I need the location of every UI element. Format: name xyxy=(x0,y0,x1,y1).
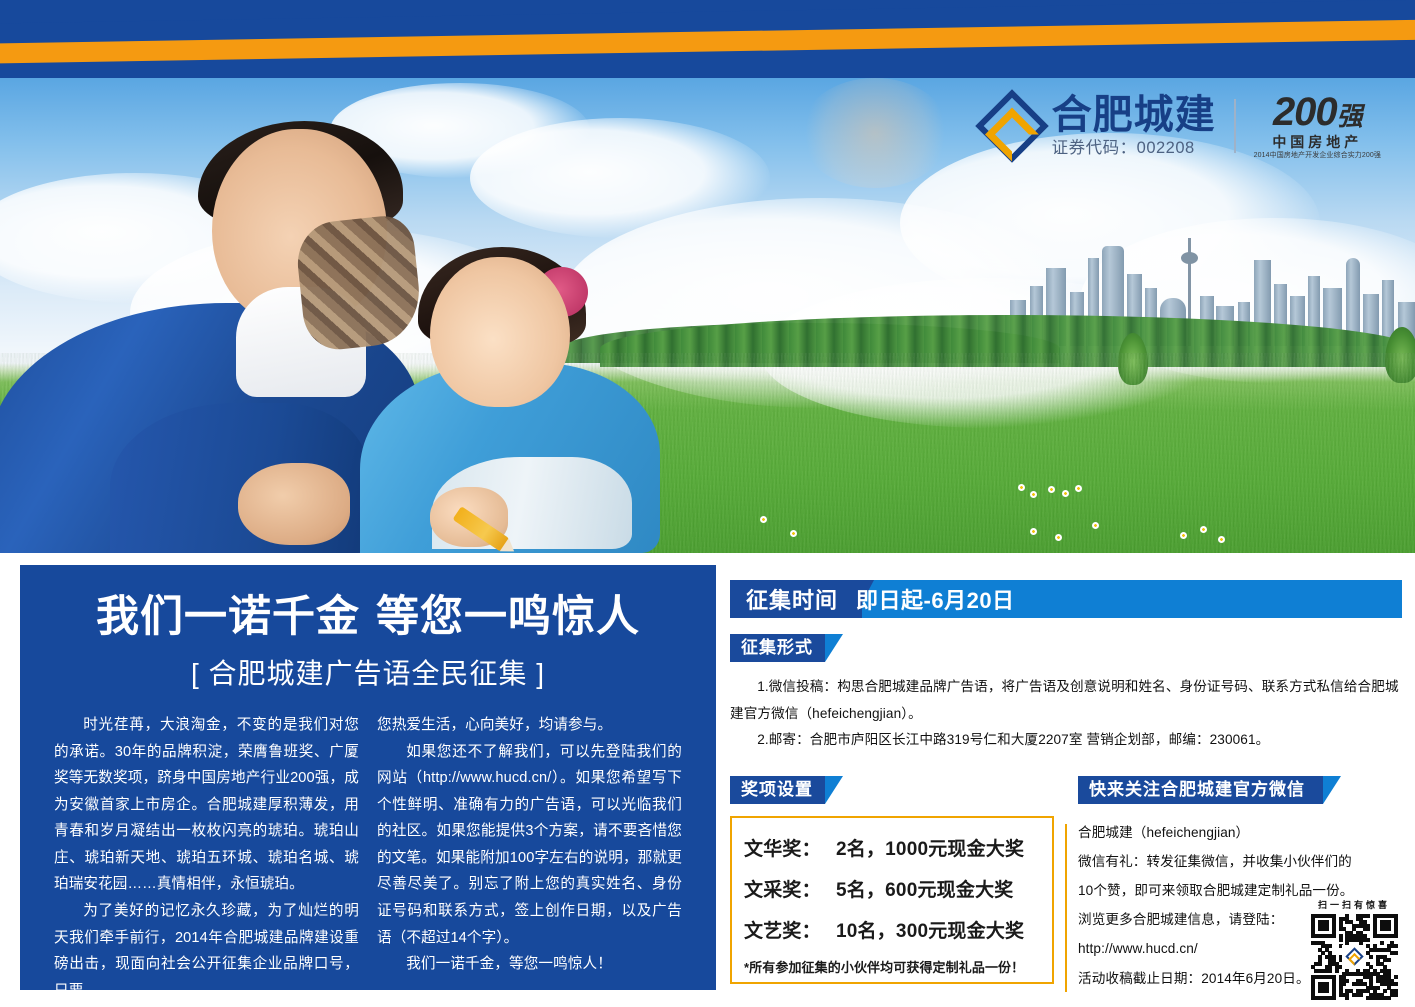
wechat-body: 合肥城建（hefeichengjian） 微信有礼：转发征集微信，并收集小伙伴们… xyxy=(1078,818,1402,996)
left-blue-panel: 我们一诺千金等您一鸣惊人 [ 合肥城建广告语全民征集 ] 时光荏苒，大浪淘金，不… xyxy=(20,565,716,990)
section-tag-label: 征集形式 xyxy=(730,634,825,662)
paragraph: 时光荏苒，大浪淘金，不变的是我们对您的承诺。30年的品牌积淀，荣膺鲁班奖、广厦奖… xyxy=(54,712,359,898)
collection-time-value: 即日起-6月20日 xyxy=(856,583,1015,615)
award-value: 10名，300元现金大奖 xyxy=(836,916,1024,943)
paragraph: 我们一诺千金，等您一鸣惊人！ xyxy=(377,951,682,978)
wechat-divider xyxy=(1065,824,1067,992)
paragraph: 为了美好的记忆永久珍藏，为了灿烂的明天我们牵手前行，2014年合肥城建品牌建设重… xyxy=(54,898,359,1004)
paragraph: 如果您还不了解我们，可以先登陆我们的网站（http://www.hucd.cn/… xyxy=(377,739,682,951)
award-row: 文采奖： 5名，600元现金大奖 xyxy=(744,875,1046,902)
qr-caption: 扫一扫有惊喜 xyxy=(1306,898,1402,911)
diamond-logo-icon xyxy=(975,89,1049,163)
family-photo-subject xyxy=(0,83,720,553)
paragraph: 您热爱生活，心向美好，均请参与。 xyxy=(377,712,682,739)
sun-flare xyxy=(800,78,950,188)
section-tag-label: 奖项设置 xyxy=(730,776,825,804)
award-name: 文采奖： xyxy=(744,875,836,902)
award-name: 文艺奖： xyxy=(744,916,836,943)
father-hand xyxy=(238,463,350,545)
logo-divider xyxy=(1234,99,1236,153)
wechat-line: 微信有礼：转发征集微信，并收集小伙伴们的 xyxy=(1078,847,1402,876)
badge-fineprint: 2014中国房地产开发企业综合实力200强 xyxy=(1254,152,1381,159)
awards-note: *所有参加征集的小伙伴均可获得定制礼品一份！ xyxy=(744,957,1046,976)
body-column-two: 您热爱生活，心向美好，均请参与。 如果您还不了解我们，可以先登陆我们的网站（ht… xyxy=(377,712,682,1004)
poster-root: 安徽省首家房地产上市企业 http://www.hucd.cn xyxy=(0,0,1415,1007)
qr-code-icon[interactable] xyxy=(1311,914,1397,1000)
form-item: 1.微信投稿：构思合肥城建品牌广告语，将广告语及创意说明和姓名、身份证号码、联系… xyxy=(730,674,1402,727)
stock-code: 证券代码：002208 xyxy=(1052,140,1216,157)
girl-head xyxy=(430,257,570,407)
award-row: 文华奖： 2名，1000元现金大奖 xyxy=(744,834,1046,861)
form-item: 2.邮寄：合肥市庐阳区长江中路319号仁和大厦2207室 营销企划部，邮编：23… xyxy=(730,727,1402,754)
qr-code-block: 扫一扫有惊喜 xyxy=(1306,898,1402,1000)
awards-box: 文华奖： 2名，1000元现金大奖 文采奖： 5名，600元现金大奖 文艺奖： … xyxy=(730,816,1054,984)
collection-time-bar: 征集时间 即日起-6月20日 xyxy=(730,580,1402,618)
brand-wordmark: 合肥城建 证券代码：002208 xyxy=(1052,95,1216,157)
brand-logo-lockup: 合肥城建 证券代码：002208 200强 中国房地产 2014中国房地产开发企… xyxy=(986,92,1381,159)
wechat-heading: 快来关注合肥城建官方微信 xyxy=(1078,776,1402,804)
headline-part-b: 等您一鸣惊人 xyxy=(376,593,640,641)
wechat-section: 快来关注合肥城建官方微信 合肥城建（hefeichengjian） 微信有礼：转… xyxy=(1078,776,1402,996)
awards-heading: 奖项设置 xyxy=(730,776,1054,804)
award-row: 文艺奖： 10名，300元现金大奖 xyxy=(744,916,1046,943)
badge-number: 200强 xyxy=(1273,92,1362,132)
award-name: 文华奖： xyxy=(744,834,836,861)
body-column-one: 时光荏苒，大浪淘金，不变的是我们对您的承诺。30年的品牌积淀，荣膺鲁班奖、广厦奖… xyxy=(54,712,359,1004)
bottom-two-columns: 奖项设置 文华奖： 2名，1000元现金大奖 文采奖： 5名，600元现金大奖 … xyxy=(730,776,1402,996)
submission-form-heading: 征集形式 xyxy=(730,634,1402,662)
award-value: 5名，600元现金大奖 xyxy=(836,875,1013,902)
awards-section: 奖项设置 文华奖： 2名，1000元现金大奖 文采奖： 5名，600元现金大奖 … xyxy=(730,776,1054,996)
submission-form-section: 征集形式 1.微信投稿：构思合肥城建品牌广告语，将广告语及创意说明和姓名、身份证… xyxy=(730,634,1402,754)
collection-time-label: 征集时间 xyxy=(746,583,838,615)
qr-center-logo xyxy=(1342,945,1366,969)
right-content-column: 征集时间 即日起-6月20日 征集形式 1.微信投稿：构思合肥城建品牌广告语，将… xyxy=(730,580,1402,992)
submission-form-body: 1.微信投稿：构思合肥城建品牌广告语，将广告语及创意说明和姓名、身份证号码、联系… xyxy=(730,674,1402,754)
sub-headline: [ 合肥城建广告语全民征集 ] xyxy=(54,652,682,692)
wechat-line: 合肥城建（hefeichengjian） xyxy=(1078,818,1402,847)
top200-badge: 200强 中国房地产 2014中国房地产开发企业综合实力200强 xyxy=(1254,92,1381,159)
main-headline: 我们一诺千金等您一鸣惊人 xyxy=(54,595,682,640)
left-body-columns: 时光荏苒，大浪淘金，不变的是我们对您的承诺。30年的品牌积淀，荣膺鲁班奖、广厦奖… xyxy=(54,712,682,1004)
brand-name: 合肥城建 xyxy=(1052,95,1216,135)
award-value: 2名，1000元现金大奖 xyxy=(836,834,1024,861)
badge-subtitle: 中国房地产 xyxy=(1272,135,1362,149)
father-scarf xyxy=(294,213,425,353)
headline-part-a: 我们一诺千金 xyxy=(96,593,360,641)
section-tag-label: 快来关注合肥城建官方微信 xyxy=(1078,776,1323,804)
